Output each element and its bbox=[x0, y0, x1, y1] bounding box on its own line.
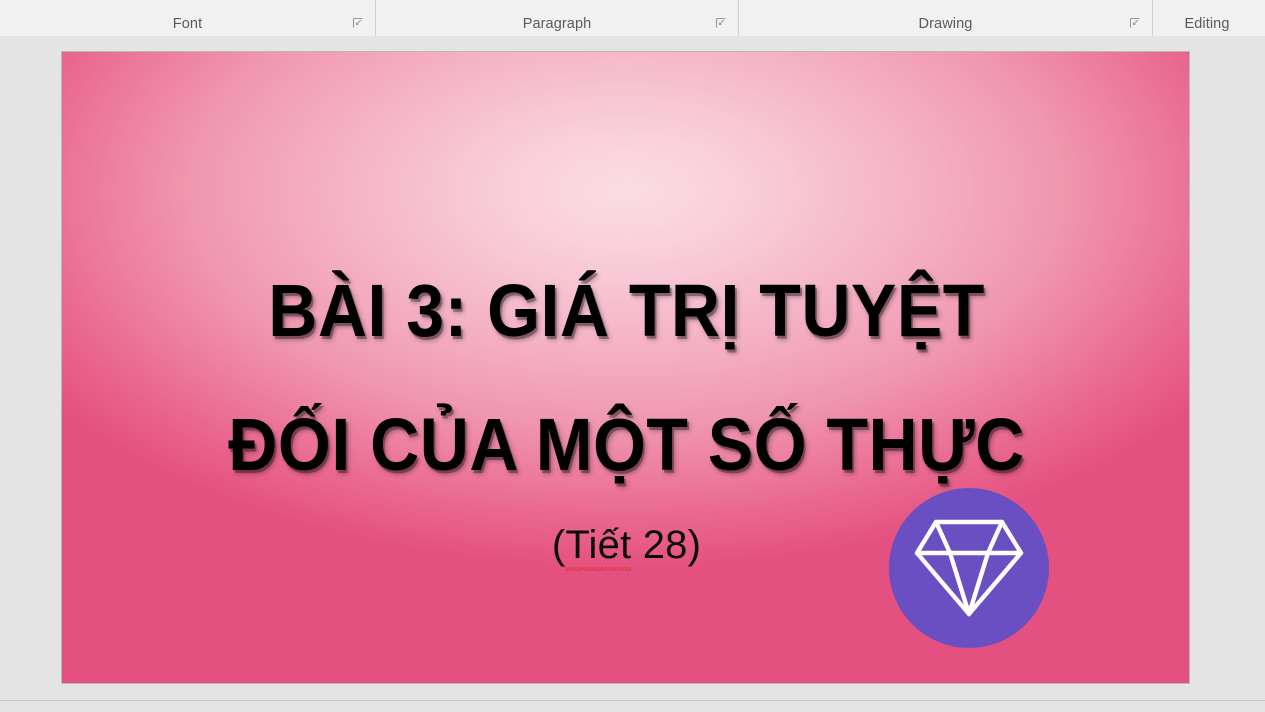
subtitle-misspelled-word: Tiết bbox=[565, 518, 631, 572]
ribbon-group-drawing[interactable]: Drawing bbox=[738, 0, 1152, 36]
dialog-launcher-icon[interactable] bbox=[352, 17, 365, 30]
slide-title-placeholder[interactable]: BÀI 3: GIÁ TRỊ TUYỆT ĐỐI CỦA MỘT SỐ THỰC bbox=[62, 244, 1190, 512]
ribbon-group-paragraph[interactable]: Paragraph bbox=[375, 0, 738, 36]
status-bar-strip bbox=[0, 701, 1265, 712]
ribbon-group-labels-bar: Font Paragraph Drawing bbox=[0, 0, 1265, 37]
ribbon-group-label-drawing: Drawing bbox=[919, 17, 973, 37]
slide-subtitle-text: (Tiết 28) bbox=[552, 518, 701, 572]
ribbon-group-label-paragraph: Paragraph bbox=[523, 17, 592, 37]
ribbon-group-editing[interactable]: Editing bbox=[1152, 0, 1265, 36]
slide-surface[interactable]: BÀI 3: GIÁ TRỊ TUYỆT ĐỐI CỦA MỘT SỐ THỰC… bbox=[61, 51, 1190, 684]
dialog-launcher-icon[interactable] bbox=[1129, 17, 1142, 30]
diamond-icon bbox=[911, 514, 1027, 622]
subtitle-open-paren: ( bbox=[552, 523, 566, 567]
ribbon-group-label-editing: Editing bbox=[1184, 17, 1233, 37]
diamond-badge[interactable] bbox=[889, 488, 1049, 648]
dialog-launcher-icon[interactable] bbox=[715, 17, 728, 30]
ribbon-group-label-font: Font bbox=[173, 17, 202, 37]
subtitle-rest: 28) bbox=[631, 523, 701, 567]
slide-title-line-1: BÀI 3: GIÁ TRỊ TUYỆT bbox=[107, 244, 1146, 378]
ribbon-group-font[interactable]: Font bbox=[0, 0, 375, 36]
ribbon-groups: Font Paragraph Drawing bbox=[0, 0, 1265, 36]
